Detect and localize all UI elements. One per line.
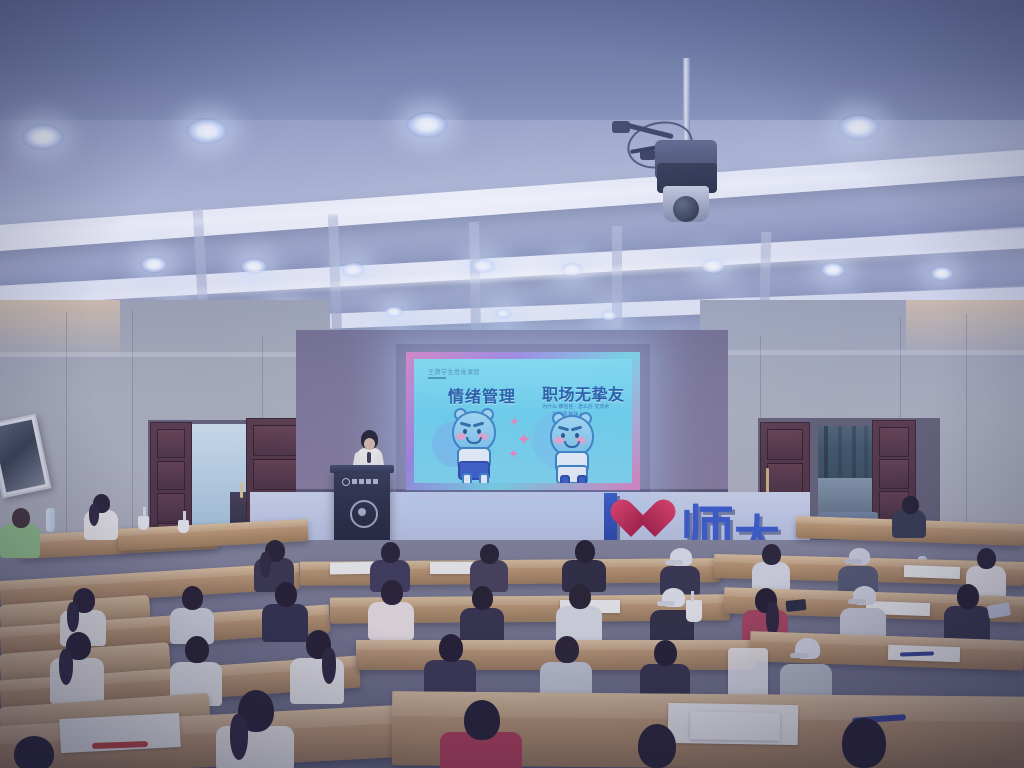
- audience-person: [470, 544, 508, 590]
- slide-title-right: 职场无挚友: [542, 381, 625, 405]
- podium-emblem-icon: [350, 500, 378, 528]
- lecture-hall-photo: 王牌学生思维课程 情绪管理 职场无挚友 为什么 难信任 · 怎么办 交流术 关键…: [0, 0, 1024, 768]
- slide-header-text: 王牌学生思维课程: [428, 367, 480, 376]
- audience-person: [50, 632, 104, 702]
- wall-trim: [726, 350, 1024, 355]
- podium-top: [330, 465, 394, 473]
- audience-person: [84, 494, 118, 538]
- ceiling-downlight: [22, 124, 64, 150]
- baseball-cap: [662, 588, 685, 607]
- ceiling-downlight: [494, 308, 512, 319]
- ceiling-downlight: [470, 258, 496, 274]
- ceiling-downlight: [406, 112, 448, 138]
- podium-nameplate: [342, 478, 382, 485]
- presenter-face: [364, 438, 375, 450]
- projector-lens-icon: [673, 196, 699, 222]
- ceiling-downlight: [930, 266, 954, 281]
- slide-subline-1: 为什么 难信任 · 怎么办 交流术: [542, 403, 609, 410]
- audience-person: [562, 540, 606, 590]
- baseball-cap: [849, 548, 870, 565]
- drink-cup: [686, 600, 702, 622]
- corridor-cabinet-right: [818, 478, 874, 514]
- wall-panel-seam: [66, 312, 67, 552]
- slide-sparkle-icon: [509, 449, 518, 458]
- paper-sheet: [904, 565, 960, 579]
- baseball-cap: [853, 586, 876, 605]
- ceiling-downlight: [240, 258, 268, 275]
- ceiling-downlight: [140, 256, 168, 273]
- slide-sparkle-icon: [510, 417, 519, 426]
- wall-warm-glow: [906, 300, 1024, 356]
- drawing-paper: [690, 711, 780, 741]
- heart-icon: [631, 501, 677, 543]
- baseball-cap: [670, 548, 692, 566]
- audience-person: [0, 508, 40, 556]
- podium: [334, 470, 390, 548]
- door-handle-left[interactable]: [240, 482, 243, 498]
- wall-warm-glow: [0, 300, 120, 360]
- drink-cup: [178, 520, 189, 533]
- audience-person: [368, 580, 414, 638]
- phone[interactable]: [785, 599, 806, 612]
- wall-panel-seam: [132, 310, 133, 550]
- projector-clamp: [612, 121, 630, 133]
- slide-sparkle-icon: [518, 433, 530, 445]
- slide-title-left: 情绪管理: [448, 383, 516, 407]
- water-bottle: [46, 508, 55, 532]
- audience-person-front: [0, 736, 70, 768]
- audience-person: [752, 544, 790, 590]
- audience-person: [290, 630, 344, 702]
- baseball-cap: [795, 638, 820, 659]
- audience-person-front: [620, 724, 694, 768]
- ceiling-downlight: [820, 262, 846, 278]
- ceiling-downlight: [600, 310, 618, 321]
- ceiling-downlight: [838, 114, 880, 140]
- doorway-right-window-view: [818, 426, 874, 482]
- slide-cartoon-left: [452, 411, 498, 477]
- microphone-icon: [367, 452, 371, 463]
- ceiling-downlight: [384, 306, 404, 318]
- audience-person-front: [440, 700, 522, 768]
- ceiling-upper-shadow: [0, 0, 1024, 120]
- drink-cup: [138, 516, 149, 530]
- audience-person: [944, 584, 990, 642]
- audience-person-front: [816, 718, 912, 768]
- ceiling-downlight: [340, 262, 366, 278]
- audience-person-front: [216, 690, 294, 768]
- door-handle-right[interactable]: [766, 468, 769, 494]
- audience-person: [170, 586, 214, 642]
- audience-person: [892, 496, 926, 536]
- audience-person: [556, 584, 602, 642]
- ceiling-downlight: [186, 118, 228, 144]
- projection-screen-content: 王牌学生思维课程 情绪管理 职场无挚友 为什么 难信任 · 怎么办 交流术 关键…: [414, 359, 632, 483]
- wall-trim: [0, 352, 300, 357]
- slide-cartoon-right: [550, 415, 596, 479]
- projection-screen: 王牌学生思维课程 情绪管理 职场无挚友 为什么 难信任 · 怎么办 交流术 关键…: [406, 352, 640, 490]
- slide-header-underline: [428, 377, 446, 379]
- projector-clamp: [640, 150, 656, 160]
